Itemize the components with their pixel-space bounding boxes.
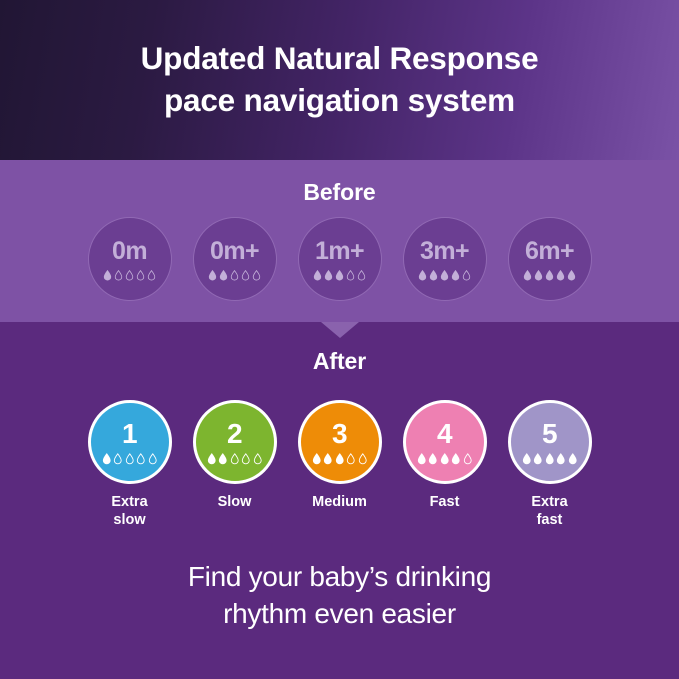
drop-indicator [523, 269, 576, 281]
drop-indicator [102, 453, 158, 465]
drop-indicator [103, 269, 156, 281]
before-stage-1: 0m [88, 217, 172, 301]
before-stage-label: 3m+ [420, 239, 469, 264]
before-section: Before 0m0m+1m+3m+6m+ [0, 160, 679, 322]
header-banner: Updated Natural Response pace navigation… [0, 0, 679, 160]
drop-indicator [207, 453, 263, 465]
water-drop-icon [463, 453, 473, 465]
water-drop-icon [556, 453, 566, 465]
footer-tagline-line-2: rhythm even easier [0, 595, 679, 632]
water-drop-icon [417, 453, 427, 465]
before-stage-label: 6m+ [525, 239, 574, 264]
water-drop-icon [440, 270, 449, 281]
water-drop-icon [114, 270, 123, 281]
water-drop-icon [357, 270, 366, 281]
water-drop-icon [556, 270, 565, 281]
after-stage-3: 3Medium [298, 400, 382, 529]
after-stage-circle: 5 [508, 400, 592, 484]
after-stage-label: Slow [218, 494, 252, 512]
water-drop-icon [522, 453, 532, 465]
before-circle-row: 0m0m+1m+3m+6m+ [0, 217, 679, 301]
after-section: After 1Extra slow2Slow3Medium4Fast5Extra… [0, 322, 679, 679]
drop-indicator [417, 453, 473, 465]
water-drop-icon [545, 453, 555, 465]
water-drop-icon [230, 453, 240, 465]
water-drop-icon [312, 453, 322, 465]
water-drop-icon [451, 270, 460, 281]
after-stage-circle: 3 [298, 400, 382, 484]
water-drop-icon [335, 270, 344, 281]
water-drop-icon [136, 270, 145, 281]
water-drop-icon [428, 453, 438, 465]
after-stage-number: 1 [122, 420, 137, 448]
water-drop-icon [324, 270, 333, 281]
page-title-line-2: pace navigation system [141, 80, 539, 122]
drop-indicator [522, 453, 578, 465]
after-stage-label: Fast [430, 494, 460, 512]
before-stage-4: 3m+ [403, 217, 487, 301]
after-heading: After [0, 348, 679, 375]
water-drop-icon [218, 453, 228, 465]
before-stage-circle: 0m+ [193, 217, 277, 301]
water-drop-icon [148, 453, 158, 465]
before-stage-circle: 3m+ [403, 217, 487, 301]
page-title-line-1: Updated Natural Response [141, 40, 539, 76]
after-stage-label: Medium [312, 494, 367, 512]
after-stage-number: 4 [437, 420, 452, 448]
water-drop-icon [125, 453, 135, 465]
arrow-down-icon [321, 322, 359, 338]
after-stage-1: 1Extra slow [88, 400, 172, 529]
after-stage-label: Extra fast [531, 494, 567, 529]
water-drop-icon [125, 270, 134, 281]
drop-indicator [418, 269, 471, 281]
water-drop-icon [568, 453, 578, 465]
before-stage-5: 6m+ [508, 217, 592, 301]
after-stage-4: 4Fast [403, 400, 487, 529]
water-drop-icon [241, 270, 250, 281]
water-drop-icon [230, 270, 239, 281]
water-drop-icon [136, 453, 146, 465]
before-stage-2: 0m+ [193, 217, 277, 301]
after-circle-row: 1Extra slow2Slow3Medium4Fast5Extra fast [0, 400, 679, 529]
page-title: Updated Natural Response pace navigation… [141, 38, 539, 121]
water-drop-icon [533, 453, 543, 465]
drop-indicator [208, 269, 261, 281]
water-drop-icon [253, 453, 263, 465]
after-stage-number: 5 [542, 420, 557, 448]
water-drop-icon [346, 270, 355, 281]
after-stage-circle: 2 [193, 400, 277, 484]
infographic-page: Updated Natural Response pace navigation… [0, 0, 679, 679]
water-drop-icon [567, 270, 576, 281]
drop-indicator [312, 453, 368, 465]
water-drop-icon [323, 453, 333, 465]
after-stage-number: 3 [332, 420, 347, 448]
drop-indicator [313, 269, 366, 281]
before-heading: Before [0, 179, 679, 206]
water-drop-icon [113, 453, 123, 465]
before-stage-label: 1m+ [315, 239, 364, 264]
before-stage-3: 1m+ [298, 217, 382, 301]
before-stage-label: 0m+ [210, 239, 259, 264]
after-stage-circle: 4 [403, 400, 487, 484]
water-drop-icon [440, 453, 450, 465]
water-drop-icon [358, 453, 368, 465]
water-drop-icon [207, 453, 217, 465]
after-stage-2: 2Slow [193, 400, 277, 529]
after-stage-label: Extra slow [111, 494, 147, 529]
water-drop-icon [102, 453, 112, 465]
water-drop-icon [534, 270, 543, 281]
water-drop-icon [313, 270, 322, 281]
before-stage-circle: 6m+ [508, 217, 592, 301]
water-drop-icon [462, 270, 471, 281]
before-stage-circle: 1m+ [298, 217, 382, 301]
water-drop-icon [219, 270, 228, 281]
water-drop-icon [241, 453, 251, 465]
before-stage-label: 0m [112, 239, 147, 264]
water-drop-icon [252, 270, 261, 281]
water-drop-icon [346, 453, 356, 465]
water-drop-icon [451, 453, 461, 465]
water-drop-icon [208, 270, 217, 281]
water-drop-icon [545, 270, 554, 281]
water-drop-icon [147, 270, 156, 281]
after-stage-number: 2 [227, 420, 242, 448]
before-stage-circle: 0m [88, 217, 172, 301]
after-stage-5: 5Extra fast [508, 400, 592, 529]
water-drop-icon [523, 270, 532, 281]
water-drop-icon [418, 270, 427, 281]
after-stage-circle: 1 [88, 400, 172, 484]
water-drop-icon [103, 270, 112, 281]
water-drop-icon [335, 453, 345, 465]
footer-tagline: Find your baby’s drinking rhythm even ea… [0, 558, 679, 632]
footer-tagline-line-1: Find your baby’s drinking [188, 561, 491, 592]
water-drop-icon [429, 270, 438, 281]
